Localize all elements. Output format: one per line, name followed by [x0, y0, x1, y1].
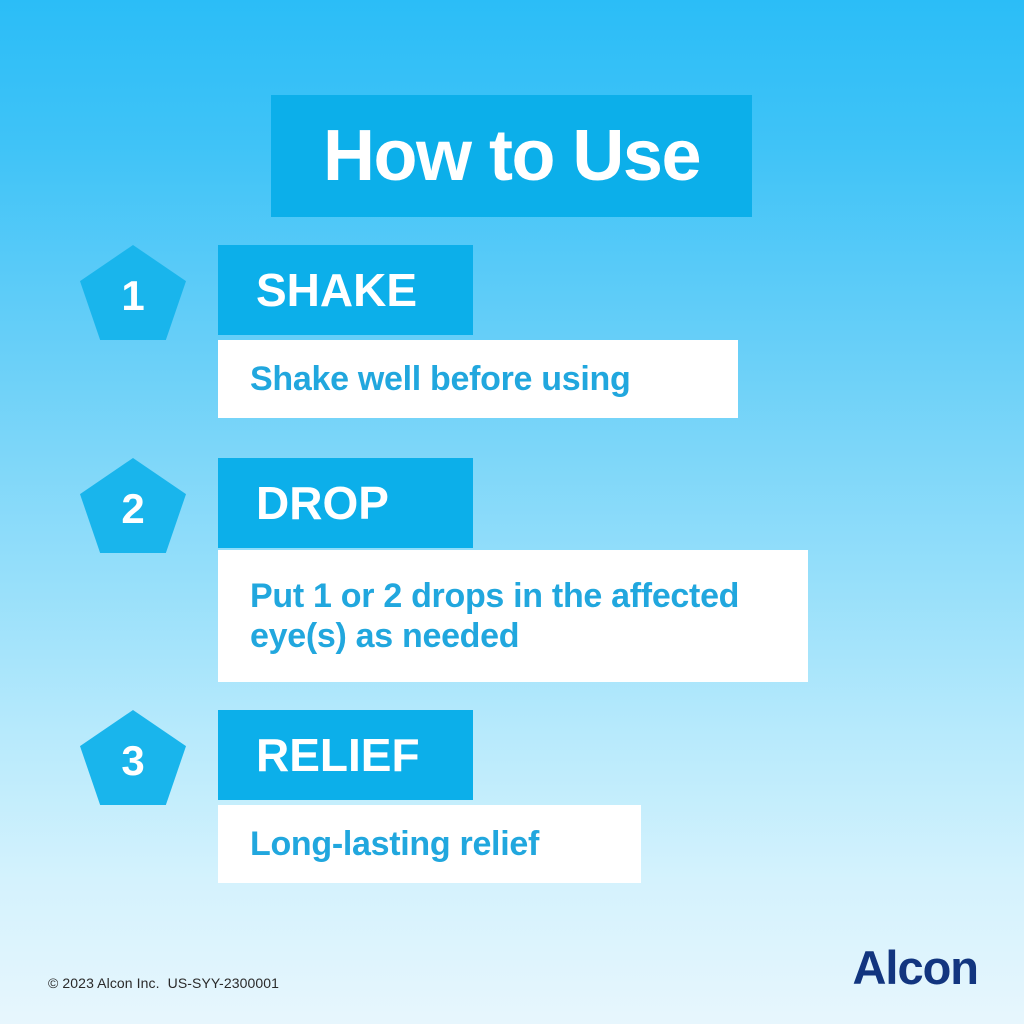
step-3-number: 3 [121, 740, 144, 782]
step-1-description-block: Shake well before using [218, 340, 738, 418]
step-3-number-badge: 3 [80, 710, 186, 805]
step-3-description-block: Long-lasting relief [218, 805, 641, 883]
step-1-number-badge: 1 [80, 245, 186, 340]
step-1-description: Shake well before using [218, 359, 654, 399]
step-3-heading: RELIEF [218, 732, 420, 778]
alcon-logo: Alcon [852, 944, 978, 991]
how-to-use-poster: How to Use 1 SHAKE Shake well before usi… [0, 0, 1024, 1024]
step-1-heading-block: SHAKE [218, 245, 473, 335]
step-3-heading-block: RELIEF [218, 710, 473, 800]
step-2-heading-block: DROP [218, 458, 473, 548]
step-1-number: 1 [121, 275, 144, 317]
page-title: How to Use [323, 120, 700, 192]
step-2-description: Put 1 or 2 drops in the affected eye(s) … [218, 576, 808, 656]
step-2-heading: DROP [218, 480, 389, 526]
step-2-number-badge: 2 [80, 458, 186, 553]
copyright-text: © 2023 Alcon Inc. US-SYY-2300001 [48, 975, 279, 991]
step-2-number: 2 [121, 488, 144, 530]
step-1-heading: SHAKE [218, 267, 417, 313]
step-2-description-block: Put 1 or 2 drops in the affected eye(s) … [218, 550, 808, 682]
title-banner: How to Use [271, 95, 752, 217]
step-3-description: Long-lasting relief [218, 824, 563, 864]
